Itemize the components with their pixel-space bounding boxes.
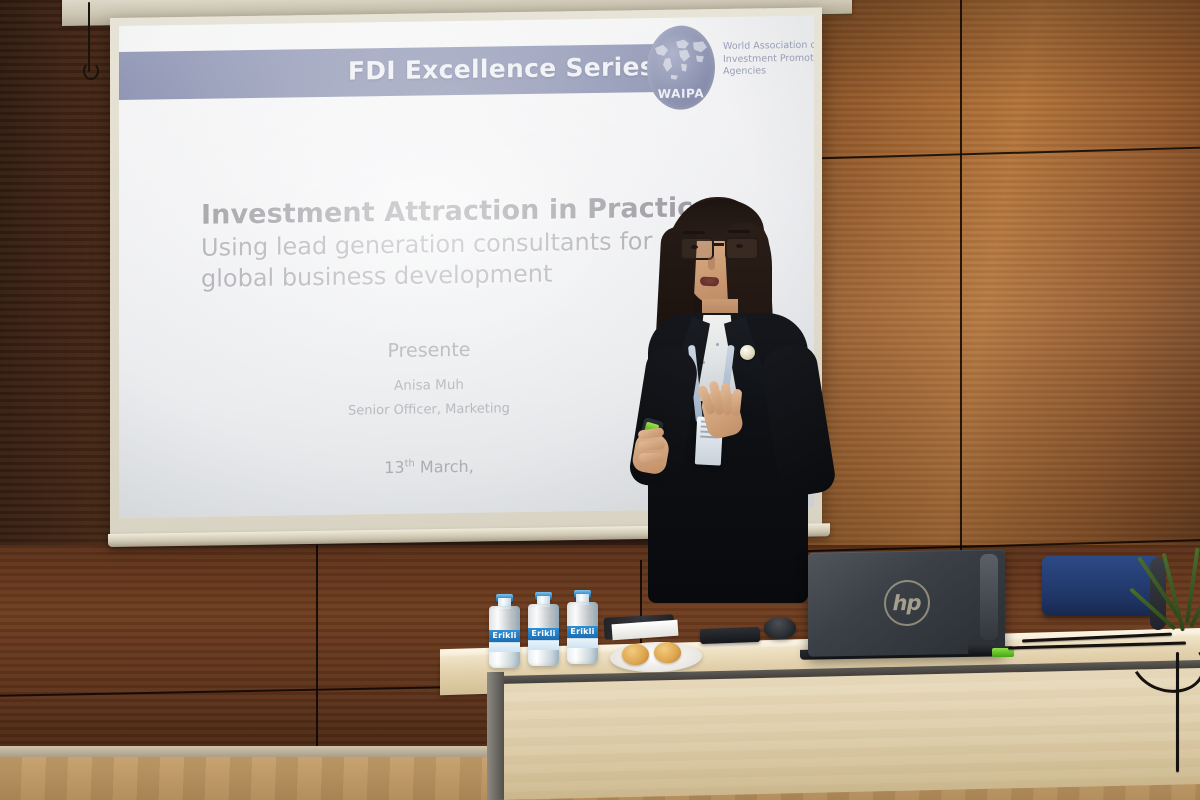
laptop[interactable]: hp: [808, 549, 1005, 656]
table-leg: [487, 672, 504, 800]
screen-pull-cord[interactable]: [88, 2, 90, 72]
hp-logo-icon: hp: [884, 580, 930, 627]
wall-seam: [316, 545, 318, 750]
slide-subtitle: Using lead generation consultants for gl…: [201, 226, 671, 294]
presenter-person: [620, 195, 850, 600]
waipa-wordmark: WAIPA: [647, 86, 715, 101]
presentation-photo-scene: FDI Excellence Series WAIPA World Associ…: [0, 0, 1200, 800]
water-bottle[interactable]: Erikli: [528, 592, 559, 666]
eye-right: [736, 244, 743, 248]
table-front-panel: [496, 668, 1200, 800]
finger: [638, 440, 666, 451]
waipa-subtitle: World Association of Investment Promotio…: [723, 39, 814, 79]
waipa-logo: WAIPA: [647, 25, 715, 110]
water-bottle[interactable]: Erikli: [567, 590, 598, 664]
eyebrow-left: [683, 231, 705, 234]
bottle-label: Erikli: [567, 626, 598, 648]
computer-mouse[interactable]: [764, 617, 796, 639]
usb-adapter: [968, 643, 994, 654]
pastry: [622, 644, 649, 665]
eye-left: [691, 245, 698, 249]
eyebrow-right: [728, 230, 750, 233]
lapel-pin-icon: [740, 345, 755, 360]
lens-right: [725, 237, 759, 260]
bottle-label: Erikli: [489, 630, 520, 652]
nose: [708, 257, 715, 270]
pastry: [654, 642, 681, 663]
potted-plant: [1155, 545, 1200, 655]
glasses-bridge: [712, 243, 724, 246]
smartphone[interactable]: [700, 627, 760, 644]
cable-hanging: [1176, 652, 1179, 772]
slide-header-band: FDI Excellence Series: [119, 44, 677, 100]
shirt-pattern-dot: [716, 343, 719, 346]
wall-seam: [960, 0, 962, 560]
bottle-label: Erikli: [528, 628, 559, 650]
finger: [639, 453, 664, 462]
chair-arm-left: [980, 554, 998, 640]
mouth-speaking: [700, 277, 719, 287]
slide-series-title: FDI Excellence Series: [348, 52, 655, 86]
globe-world-map-icon: [651, 33, 711, 86]
water-bottle[interactable]: Erikli: [489, 594, 520, 668]
